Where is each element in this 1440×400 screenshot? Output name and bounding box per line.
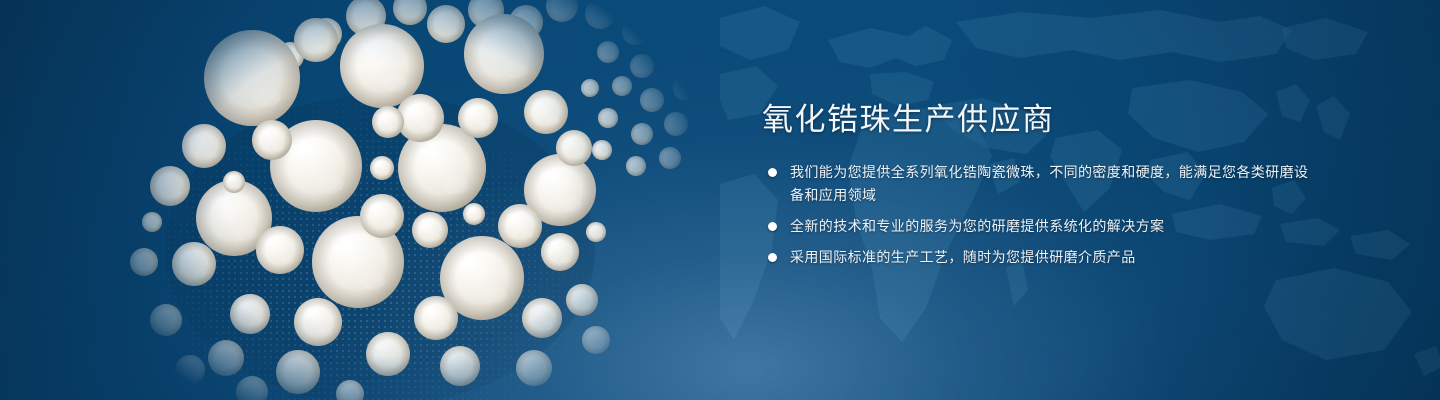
bullet-dot-icon <box>768 222 777 231</box>
hero-banner: 氧化锆珠生产供应商 我们能为您提供全系列氧化锆陶瓷微珠，不同的密度和硬度，能满足… <box>0 0 1440 400</box>
page-title: 氧化锆珠生产供应商 <box>762 104 1322 135</box>
list-item-label: 我们能为您提供全系列氧化锆陶瓷微珠，不同的密度和硬度，能满足您各类研磨设备和应用… <box>790 161 1322 207</box>
list-item-label: 全新的技术和专业的服务为您的研磨提供系统化的解决方案 <box>790 215 1322 238</box>
list-item: 全新的技术和专业的服务为您的研磨提供系统化的解决方案 <box>762 215 1322 238</box>
feature-list: 我们能为您提供全系列氧化锆陶瓷微珠，不同的密度和硬度，能满足您各类研磨设备和应用… <box>762 161 1322 269</box>
list-item: 采用国际标准的生产工艺，随时为您提供研磨介质产品 <box>762 246 1322 269</box>
list-item: 我们能为您提供全系列氧化锆陶瓷微珠，不同的密度和硬度，能满足您各类研磨设备和应用… <box>762 161 1322 207</box>
bullet-dot-icon <box>768 253 777 262</box>
banner-copy: 氧化锆珠生产供应商 我们能为您提供全系列氧化锆陶瓷微珠，不同的密度和硬度，能满足… <box>762 104 1322 269</box>
bullet-dot-icon <box>768 168 777 177</box>
list-item-label: 采用国际标准的生产工艺，随时为您提供研磨介质产品 <box>790 246 1322 269</box>
zirconia-beads-photo <box>130 0 710 400</box>
beads-cluster <box>130 0 710 400</box>
